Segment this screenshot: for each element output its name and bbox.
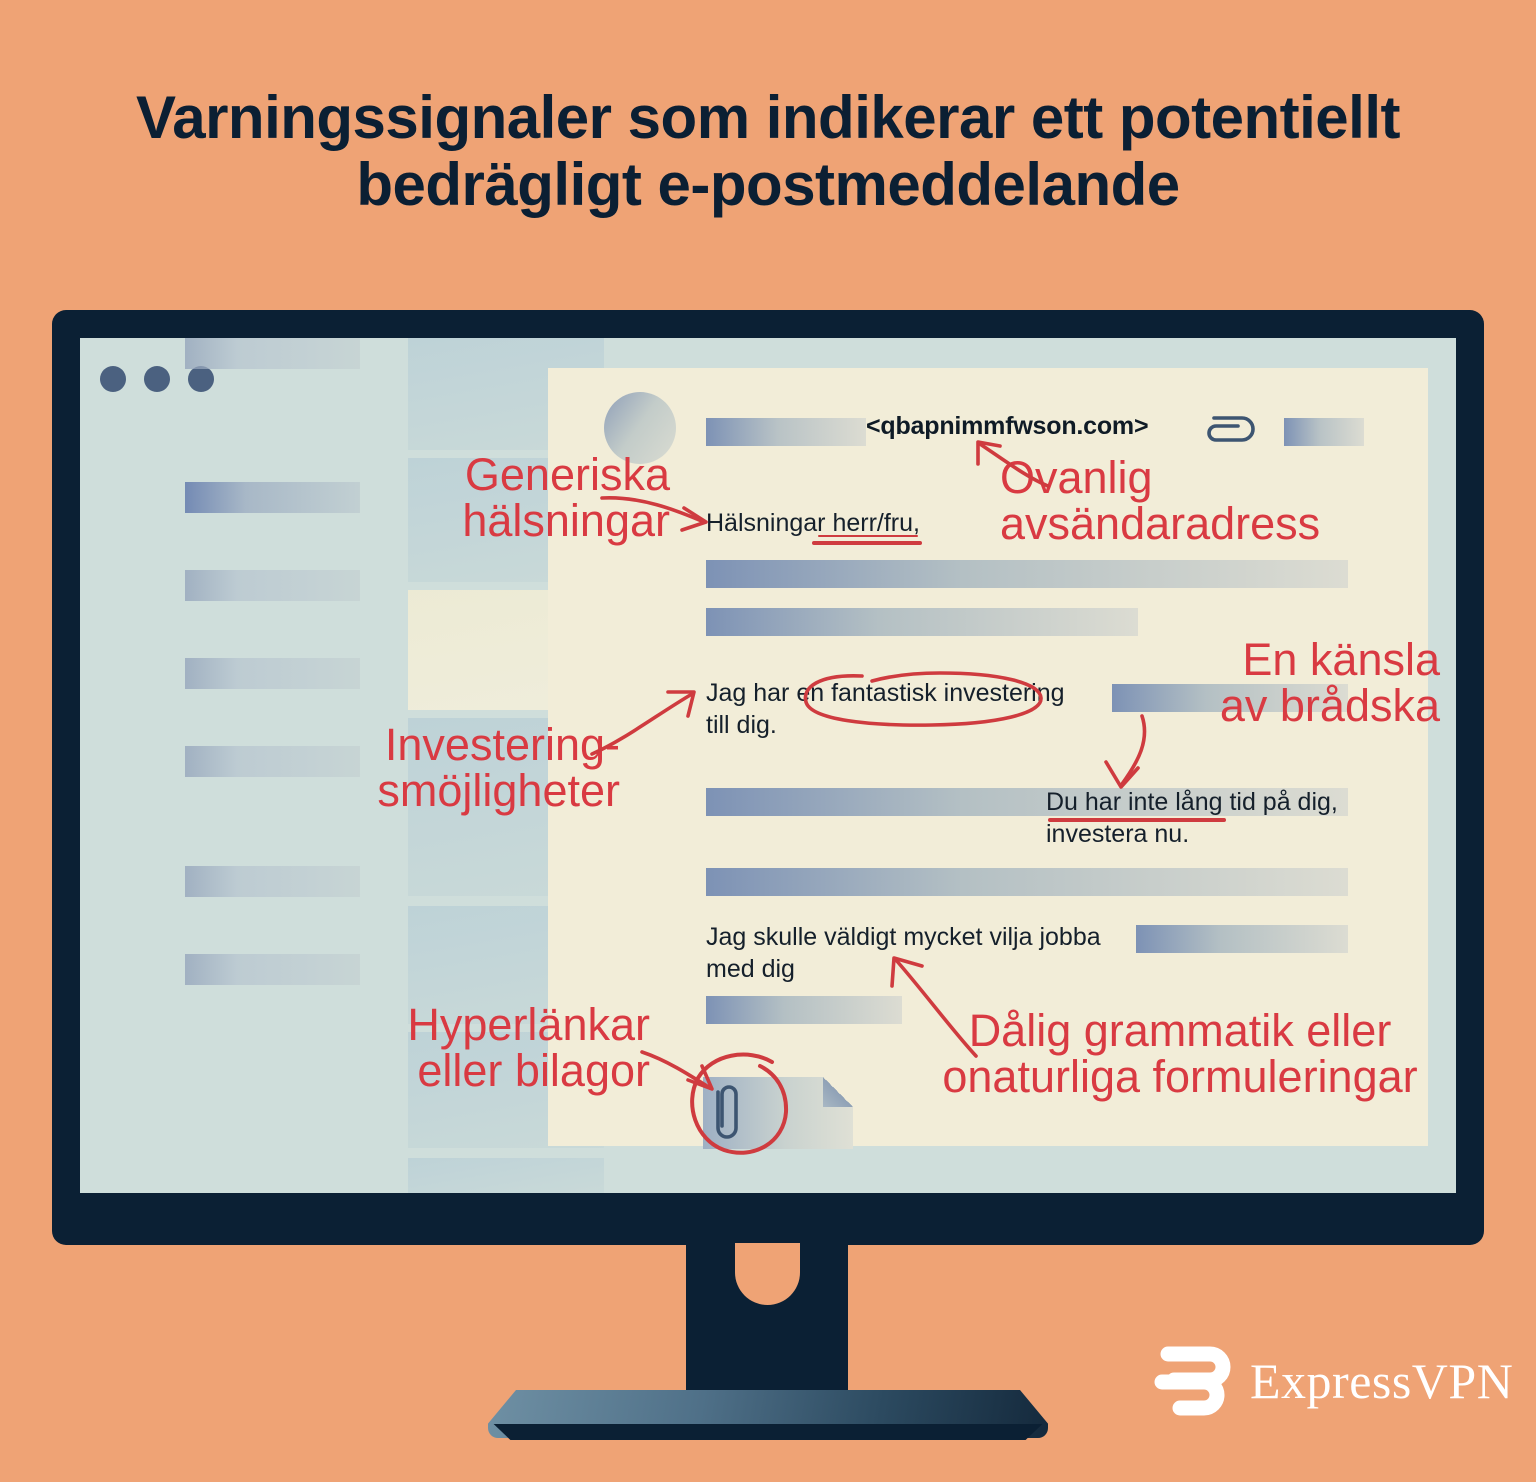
arrow-urgency xyxy=(1100,712,1162,792)
window-dot-minimize[interactable] xyxy=(144,366,170,392)
expressvpn-e-icon xyxy=(1160,1352,1230,1410)
arrow-investment xyxy=(588,688,700,758)
sidebar-row-6b[interactable] xyxy=(185,954,360,985)
body-bar-2 xyxy=(706,608,1138,636)
body-bar-6 xyxy=(1136,925,1348,953)
sidebar-row-6[interactable] xyxy=(185,338,360,369)
sidebar-row-3[interactable] xyxy=(185,658,360,689)
greeting-underline xyxy=(812,541,922,545)
window-dot-maximize[interactable] xyxy=(188,366,214,392)
header-meta-placeholder xyxy=(1284,418,1364,446)
arrow-unusual-sender xyxy=(972,438,1052,490)
annotation-unusual-sender: Ovanlig avsändaradress xyxy=(1000,455,1400,547)
monitor-stand-base-shadow xyxy=(488,1424,1048,1440)
sender-name-placeholder xyxy=(706,418,866,446)
attachment-fold-corner xyxy=(823,1077,853,1107)
brand-logo: ExpressVPN xyxy=(1160,1352,1513,1410)
page-title: Varningssignaler som indikerar ett poten… xyxy=(0,84,1536,218)
greeting-underline-2 xyxy=(818,535,918,537)
arrow-hyperlinks xyxy=(640,1048,716,1094)
annotation-bad-grammar: Dålig grammatik eller onaturliga formule… xyxy=(930,1008,1430,1100)
annotation-hyperlinks-attachments: Hyperlänkar eller bilagor xyxy=(290,1002,650,1094)
window-dot-close[interactable] xyxy=(100,366,126,392)
annotation-investment-opportunities: Investering- smöjligheter xyxy=(250,722,620,814)
urgency-underline xyxy=(1048,818,1226,822)
body-bar-5 xyxy=(706,868,1348,896)
body-bar-7 xyxy=(706,996,902,1024)
sidebar-row-5[interactable] xyxy=(185,866,360,897)
body-bar-1 xyxy=(706,560,1348,588)
circle-annotation-investment xyxy=(800,668,1050,730)
sidebar-row-2[interactable] xyxy=(185,570,360,601)
sender-address: <qbapnimmfwson.com> xyxy=(866,412,1148,441)
paperclip-icon[interactable] xyxy=(1202,412,1256,446)
list-card-7[interactable] xyxy=(408,1158,604,1193)
brand-name: ExpressVPN xyxy=(1250,1352,1513,1410)
arrow-bad-grammar xyxy=(880,952,980,1062)
monitor-stand-notch xyxy=(735,1243,800,1305)
arrow-generic-greetings xyxy=(600,492,716,540)
